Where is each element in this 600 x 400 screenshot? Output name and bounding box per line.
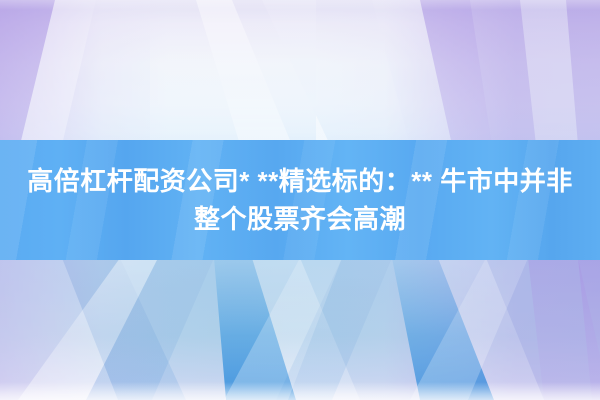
top-fade-overlay: [0, 0, 600, 10]
bottom-fade-overlay: [0, 382, 600, 400]
banner-graphic: 高倍杠杆配资公司* **精选标的：** 牛市中并非 整个股票齐会高潮: [0, 0, 600, 400]
headline-line-1: 高倍杠杆配资公司* **精选标的：** 牛市中并非: [27, 162, 573, 200]
headline-line-2: 整个股票齐会高潮: [194, 200, 406, 238]
headline-text-block: 高倍杠杆配资公司* **精选标的：** 牛市中并非 整个股票齐会高潮: [0, 140, 600, 260]
